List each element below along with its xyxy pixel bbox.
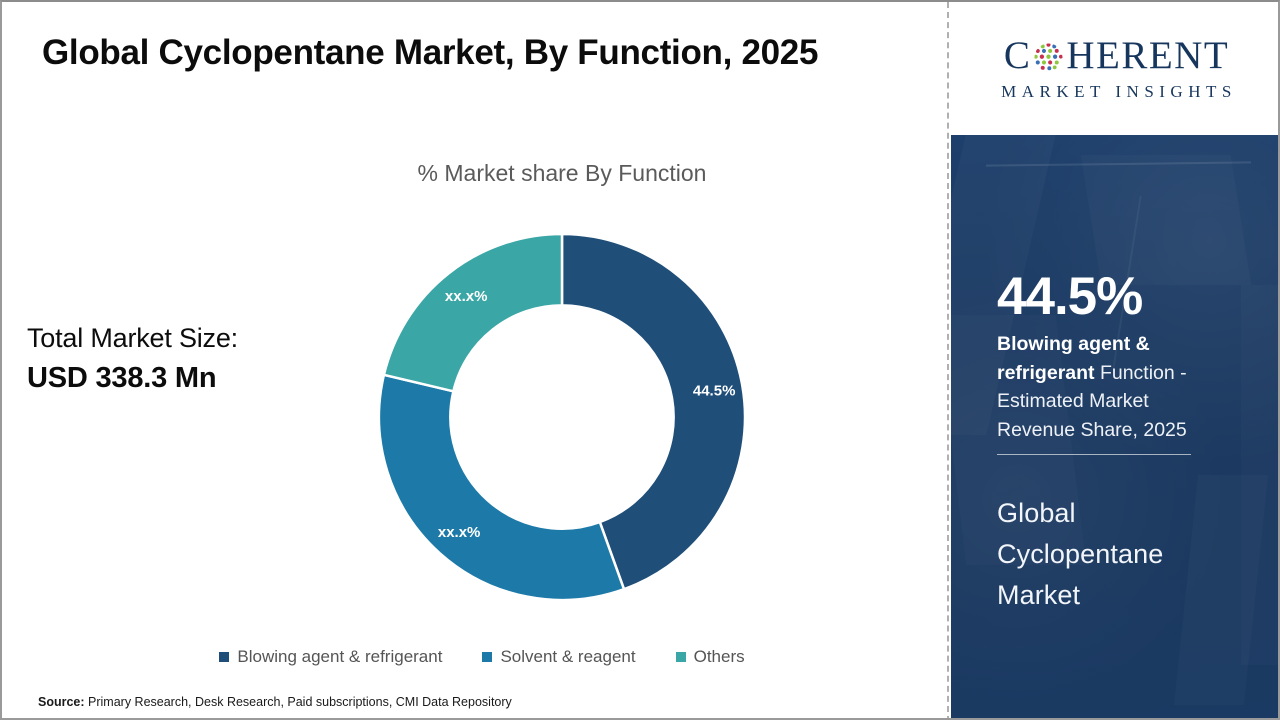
stat-percentage: 44.5%	[997, 270, 1142, 323]
legend-swatch-icon	[219, 652, 229, 662]
donut-svg: 44.5%xx.x%xx.x%	[377, 232, 747, 602]
brand-logo: C	[951, 2, 1280, 135]
legend-item: Blowing agent & refrigerant	[219, 647, 442, 667]
market-name: Global Cyclopentane Market	[997, 493, 1237, 616]
total-market-size-label: Total Market Size:	[27, 322, 327, 356]
globe-icon	[1032, 41, 1065, 74]
slice-value-label: xx.x%	[438, 524, 481, 541]
stat-description: Blowing agent & refrigerant Function - E…	[997, 330, 1219, 445]
total-market-size-block: Total Market Size: USD 338.3 Mn	[27, 322, 327, 396]
panel-divider	[947, 2, 949, 720]
slice-value-label: xx.x%	[445, 288, 488, 305]
slice-value-label: 44.5%	[693, 382, 736, 399]
legend-swatch-icon	[676, 652, 686, 662]
source-label: Source:	[38, 695, 85, 709]
donut-slice	[379, 375, 624, 600]
left-content-panel: Global Cyclopentane Market, By Function,…	[2, 2, 947, 720]
legend-item: Solvent & reagent	[482, 647, 635, 667]
logo-wordmark: C	[1004, 36, 1229, 75]
stat-divider-rule	[997, 454, 1191, 455]
page-title: Global Cyclopentane Market, By Function,…	[42, 32, 922, 74]
logo-subtitle: MARKET INSIGHTS	[996, 82, 1237, 102]
legend-item: Others	[676, 647, 745, 667]
legend-label: Solvent & reagent	[500, 647, 635, 667]
slide-root: Global Cyclopentane Market, By Function,…	[0, 0, 1280, 720]
logo-word-herent: HERENT	[1066, 36, 1229, 75]
total-market-size-value: USD 338.3 Mn	[27, 360, 327, 396]
highlight-stat-panel: 44.5% Blowing agent & refrigerant Functi…	[951, 135, 1280, 720]
right-sidebar: C	[951, 2, 1280, 720]
legend-label: Others	[694, 647, 745, 667]
legend-swatch-icon	[482, 652, 492, 662]
legend-label: Blowing agent & refrigerant	[237, 647, 442, 667]
donut-chart: 44.5%xx.x%xx.x%	[377, 232, 747, 602]
donut-slice	[384, 234, 562, 391]
source-note: Source: Primary Research, Desk Research,…	[38, 695, 512, 709]
chart-title: % Market share By Function	[252, 160, 872, 187]
source-value: Primary Research, Desk Research, Paid su…	[85, 695, 512, 709]
chart-legend: Blowing agent & refrigerantSolvent & rea…	[122, 647, 842, 667]
logo-letter-c: C	[1004, 36, 1032, 75]
